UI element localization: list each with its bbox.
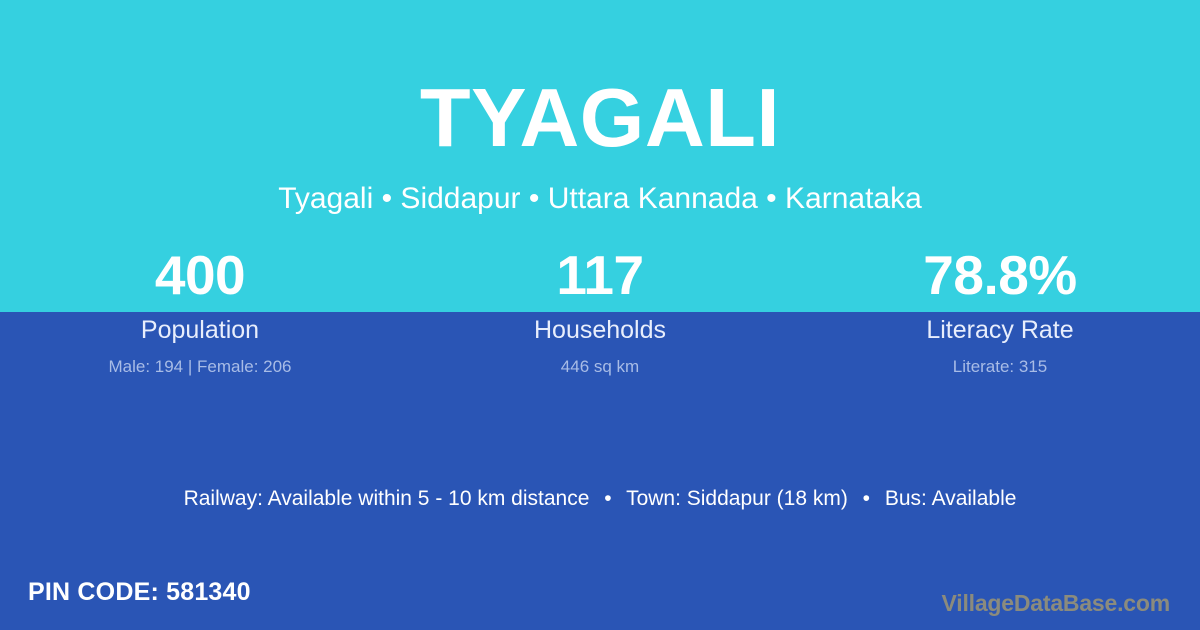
stat-households-value: 117: [400, 246, 800, 305]
amenities-line: Railway: Available within 5 - 10 km dist…: [0, 486, 1200, 511]
amenity-bus: Bus: Available: [885, 487, 1017, 510]
pin-code: PIN CODE: 581340: [28, 577, 251, 607]
stat-literacy: 78.8% Literacy Rate Literate: 315: [800, 246, 1200, 377]
stat-literacy-count: Literate: 315: [800, 357, 1200, 377]
stat-households-label: Households: [400, 315, 800, 345]
page-title: TYAGALI: [0, 76, 1200, 159]
stat-population-value: 400: [0, 246, 400, 305]
amenity-town: Town: Siddapur (18 km): [626, 487, 848, 510]
amenity-railway: Railway: Available within 5 - 10 km dist…: [184, 487, 590, 510]
stat-households-area: 446 sq km: [400, 357, 800, 377]
village-info-card: TYAGALI Tyagali • Siddapur • Uttara Kann…: [0, 0, 1200, 630]
site-watermark: VillageDataBase.com: [942, 590, 1170, 618]
stat-population: 400 Population Male: 194 | Female: 206: [0, 246, 400, 377]
stat-literacy-label: Literacy Rate: [800, 315, 1200, 345]
stat-households: 117 Households 446 sq km: [400, 246, 800, 377]
stat-population-label: Population: [0, 315, 400, 345]
stat-literacy-value: 78.8%: [800, 246, 1200, 305]
amenity-separator-icon: •: [595, 486, 620, 511]
stat-population-breakdown: Male: 194 | Female: 206: [0, 357, 400, 377]
stats-row: 400 Population Male: 194 | Female: 206 1…: [0, 246, 1200, 377]
breadcrumb: Tyagali • Siddapur • Uttara Kannada • Ka…: [0, 181, 1200, 217]
amenity-separator-icon: •: [854, 486, 879, 511]
